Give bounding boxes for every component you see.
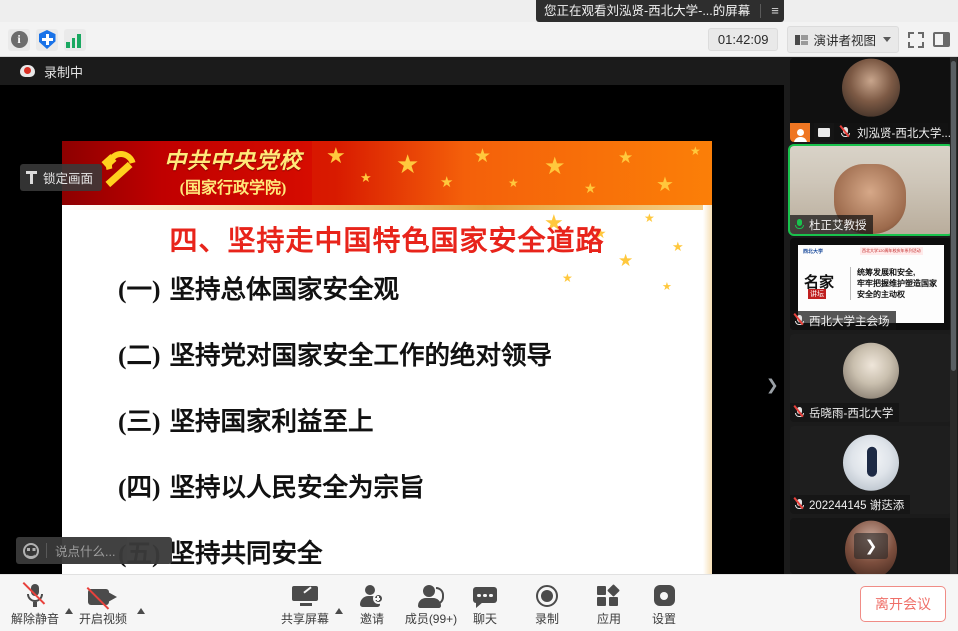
- chevron-down-icon[interactable]: ❯: [854, 533, 888, 559]
- avatar: [842, 59, 900, 117]
- smiley-icon[interactable]: [23, 543, 39, 559]
- chevron-down-icon: [883, 37, 891, 42]
- bullet-number: (三): [118, 407, 160, 436]
- participant-name: 刘泓贤-西北大学...: [857, 125, 951, 141]
- participant-name: 岳晓雨-西北大学: [809, 405, 893, 421]
- mic-muted-icon: [794, 314, 805, 327]
- hammer-and-sickle-icon: [98, 149, 144, 195]
- participant-name-bar: 杜正艾教授: [790, 215, 873, 234]
- participant-thumbnail[interactable]: 西北大学 西北大学120周年校庆年系列活动 名家 讲坛 统筹发展和安全, 牢牢把…: [790, 238, 952, 330]
- view-mode-label: 演讲者视图: [813, 30, 876, 49]
- participant-thumbnail[interactable]: 202244145 谢荙添: [790, 426, 952, 514]
- toolbar-left-group: i: [8, 22, 86, 57]
- bullet-text: 坚持党对国家安全工作的绝对领导: [169, 341, 552, 370]
- invite-label: 邀请: [360, 610, 384, 627]
- record-icon: [536, 581, 558, 607]
- shared-screen-stage: 录制中 锁定画面 中共中央党校 (国家行政学院) ★: [0, 57, 784, 574]
- quick-chat-placeholder: 说点什么...: [55, 541, 115, 560]
- bullet-text: 坚持共同安全: [169, 539, 322, 568]
- divider: [760, 4, 761, 18]
- bullet-text: 坚持以人民安全为宗旨: [169, 473, 424, 502]
- slide-header-band: 中共中央党校 (国家行政学院) ★ ★ ★ ★ ★ ★ ★ ★ ★ ★ ★: [62, 141, 712, 205]
- hamburger-icon[interactable]: ≡: [771, 0, 778, 22]
- lock-view-button[interactable]: 锁定画面: [20, 164, 102, 191]
- record-button[interactable]: 录制: [515, 581, 579, 627]
- panel-scrollbar[interactable]: [950, 57, 957, 574]
- pin-icon: [26, 171, 37, 184]
- banner-subtitle-left: 讲坛: [808, 289, 826, 299]
- apps-label: 应用: [597, 610, 621, 627]
- bullet-number: (二): [118, 341, 160, 370]
- slide-right-edge: [703, 205, 712, 624]
- avatar: [843, 342, 899, 398]
- banner-badge: 西北大学120周年校庆年系列活动: [860, 247, 923, 255]
- banner-line: 牢牢把握维护塑造国家: [857, 278, 938, 289]
- bullet-number: (一): [118, 275, 160, 304]
- mute-button[interactable]: 解除静音: [3, 581, 67, 627]
- mic-muted-icon: [840, 126, 851, 139]
- mic-muted-icon: [794, 406, 805, 419]
- org-line-1: 中共中央党校: [158, 143, 308, 175]
- watching-banner[interactable]: 您正在观看刘泓贤-西北大学-...的屏幕 ≡: [536, 0, 784, 22]
- info-icon[interactable]: i: [8, 29, 30, 51]
- participant-name-bar: 刘泓贤-西北大学...: [790, 123, 948, 142]
- recording-label: 录制中: [44, 62, 83, 81]
- speaker-view-icon: [795, 34, 808, 46]
- star-decoration: ★ ★ ★ ★ ★ ★ ★ ★ ★ ★ ★: [312, 141, 712, 205]
- host-icon: [790, 123, 810, 142]
- bullet-text: 坚持总体国家安全观: [169, 275, 399, 304]
- slide-bullet: (三)坚持国家利益至上: [118, 401, 698, 438]
- invite-icon: [360, 581, 384, 607]
- banner-brand: 西北大学: [803, 248, 823, 255]
- video-button[interactable]: 开启视频: [71, 581, 135, 627]
- meeting-controls-bar: 解除静音 开启视频 共享屏幕: [0, 574, 958, 631]
- slide-title: 四、坚持走中国特色国家安全道路: [62, 219, 712, 259]
- chat-icon: [473, 581, 497, 607]
- participants-label: 成员(99+): [405, 610, 457, 627]
- banner-line: 安全的主动权: [857, 289, 938, 300]
- leave-meeting-button[interactable]: 离开会议: [860, 586, 946, 622]
- mic-muted-icon: [24, 581, 46, 607]
- participant-thumbnail[interactable]: 岳晓雨-西北大学: [790, 334, 952, 422]
- share-screen-label: 共享屏幕: [281, 610, 329, 627]
- participant-name: 西北大学主会场: [809, 313, 890, 329]
- title-bar: 您正在观看刘泓贤-西北大学-...的屏幕 ≡: [0, 0, 958, 22]
- mic-active-icon: [794, 218, 805, 231]
- side-panel-icon[interactable]: [933, 32, 950, 47]
- participant-name: 杜正艾教授: [809, 217, 867, 233]
- slide-org-name: 中共中央党校 (国家行政学院): [158, 143, 308, 198]
- top-toolbar: i 01:42:09 演讲者视图: [0, 22, 958, 57]
- org-line-2: (国家行政学院): [158, 174, 308, 198]
- share-screen-icon: [292, 581, 318, 607]
- participant-name-bar: 西北大学主会场: [790, 311, 896, 330]
- bullet-text: 坚持国家利益至上: [169, 407, 373, 436]
- participant-name: 202244145 谢荙添: [809, 497, 904, 513]
- record-label: 录制: [535, 610, 559, 627]
- participants-panel: 刘泓贤-西北大学... 杜正艾教授 西北大学 西北大学120周年校庆年系列活动 …: [784, 57, 958, 574]
- participant-thumbnail[interactable]: ❯: [790, 518, 952, 574]
- meeting-timer: 01:42:09: [708, 28, 779, 51]
- share-icon: [814, 123, 834, 142]
- watching-label: 您正在观看刘泓贤-西北大学-...的屏幕: [544, 0, 750, 22]
- avatar: [843, 434, 899, 490]
- participant-name-bar: 202244145 谢荙添: [790, 495, 910, 514]
- slide-bullet: (五)坚持共同安全: [118, 533, 698, 570]
- slide-bullet: (四)坚持以人民安全为宗旨: [118, 467, 698, 504]
- bullet-number: (四): [118, 473, 160, 502]
- shield-icon[interactable]: [36, 29, 58, 51]
- chat-button[interactable]: 聊天: [453, 581, 517, 627]
- video-label: 开启视频: [79, 610, 127, 627]
- mute-label: 解除静音: [11, 610, 59, 627]
- share-screen-button[interactable]: 共享屏幕: [273, 581, 337, 627]
- slide-divider: [62, 205, 712, 210]
- recording-bar: 录制中: [0, 57, 784, 85]
- video-options-caret[interactable]: [137, 608, 145, 614]
- settings-label: 设置: [652, 610, 676, 627]
- banner-line: 统筹发展和安全,: [857, 267, 938, 278]
- video-off-icon: [88, 581, 118, 607]
- participants-icon: [418, 581, 444, 607]
- mic-muted-icon: [794, 498, 805, 511]
- recording-icon: [20, 65, 35, 77]
- divider: [46, 543, 47, 558]
- signal-bars-icon[interactable]: [64, 29, 86, 51]
- view-mode-selector[interactable]: 演讲者视图: [787, 26, 899, 53]
- lock-view-label: 锁定画面: [43, 168, 93, 187]
- gear-icon: [653, 581, 676, 607]
- participant-thumbnail[interactable]: 刘泓贤-西北大学...: [790, 58, 952, 142]
- toolbar-right-group: 01:42:09 演讲者视图: [708, 22, 950, 57]
- slide-bullet-list: (一)坚持总体国家安全观 (二)坚持党对国家安全工作的绝对领导 (三)坚持国家利…: [118, 269, 698, 624]
- fullscreen-icon[interactable]: [908, 32, 924, 48]
- participant-name-bar: 岳晓雨-西北大学: [790, 403, 899, 422]
- quick-chat-input[interactable]: 说点什么...: [16, 537, 172, 564]
- apps-icon: [597, 581, 621, 607]
- chevron-right-icon[interactable]: ❯: [766, 376, 779, 394]
- zoom-meeting-window: 您正在观看刘泓贤-西北大学-...的屏幕 ≡ i 01:42:09 演讲者视图: [0, 0, 958, 631]
- slide-bullet: (一)坚持总体国家安全观: [118, 269, 698, 306]
- participant-thumbnail[interactable]: 杜正艾教授: [790, 146, 952, 234]
- slide-bullet: (二)坚持党对国家安全工作的绝对领导: [118, 335, 698, 372]
- chat-label: 聊天: [473, 610, 497, 627]
- settings-button[interactable]: 设置: [632, 581, 696, 627]
